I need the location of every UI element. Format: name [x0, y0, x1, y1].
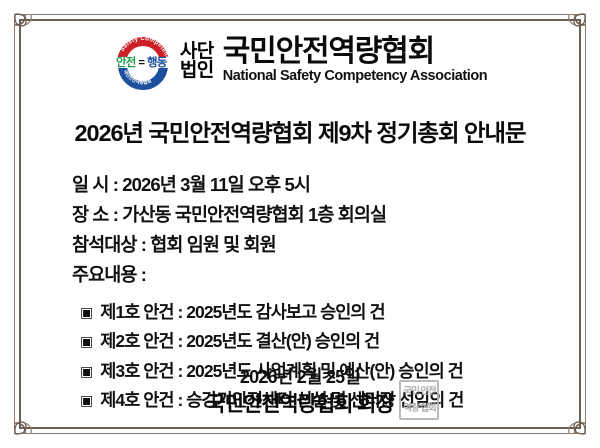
svg-text:=: = — [138, 57, 144, 69]
list-item: ▣ 제1호 안건 : 2025년도 감사보고 승인의 건 — [80, 298, 576, 327]
meeting-info-block: 일 시 : 2026년 3월 11일 오후 5시 장 소 : 가산동 국민안전역… — [24, 170, 576, 290]
official-seal-stamp: 국민 안전 역량 협회 — [399, 380, 439, 420]
list-item: ▣ 제2호 안건 : 2025년도 결산(안) 승인의 건 — [80, 327, 576, 356]
entity-type-label: 사단 법인 — [180, 42, 214, 81]
filled-square-bullet-icon: ▣ — [80, 305, 92, 319]
agenda-item-text: 제2호 안건 : 2025년도 결산(안) 승인의 건 — [100, 327, 379, 356]
issue-date: 2026년 2월 25일 — [24, 366, 576, 389]
document-footer: 2026년 2월 25일 국민안전역량협회 회장 국민 안전 역량 협회 — [24, 366, 576, 418]
info-row-location: 장 소 : 가산동 국민안전역량협회 1층 회의실 — [72, 200, 576, 230]
entity-type-line1: 사단 — [180, 42, 214, 61]
organization-names: 국민안전역량협회 National Safety Competency Asso… — [221, 37, 487, 85]
agenda-item-text: 제1호 안건 : 2025년도 감사보고 승인의 건 — [100, 298, 384, 327]
org-name-english: National Safety Competency Association — [223, 68, 487, 85]
svg-text:행동: 행동 — [147, 55, 168, 69]
letterhead: Safety Competency 국민안전역량협회 안전 = 행동 사단 법인… — [24, 24, 576, 94]
seal-char-top-left: 국민 — [402, 383, 419, 400]
info-row-datetime: 일 시 : 2026년 3월 11일 오후 5시 — [72, 170, 576, 200]
org-name-korean: 국민안전역량협회 — [223, 37, 487, 68]
page-title: 2026년 국민안전역량협회 제9차 정기총회 안내문 — [24, 114, 576, 148]
svg-text:안전: 안전 — [116, 55, 136, 69]
info-row-attendees: 참석대상 : 협회 임원 및 회원 — [72, 230, 576, 260]
signer-title: 국민안전역량협회 회장 — [207, 393, 394, 416]
association-emblem-icon: Safety Competency 국민안전역량협회 안전 = 행동 — [113, 32, 173, 90]
signature-line: 국민안전역량협회 회장 국민 안전 역량 협회 — [207, 392, 394, 418]
seal-char-top-right: 안전 — [419, 383, 436, 400]
document-body: Safety Competency 국민안전역량협회 안전 = 행동 사단 법인… — [24, 24, 576, 424]
filled-square-bullet-icon: ▣ — [80, 334, 92, 348]
seal-char-bottom-left: 역량 — [402, 400, 419, 417]
entity-type-line2: 법인 — [180, 61, 214, 80]
info-row-agenda-heading: 주요내용 : — [72, 260, 576, 290]
seal-char-bottom-right: 협회 — [419, 400, 436, 417]
